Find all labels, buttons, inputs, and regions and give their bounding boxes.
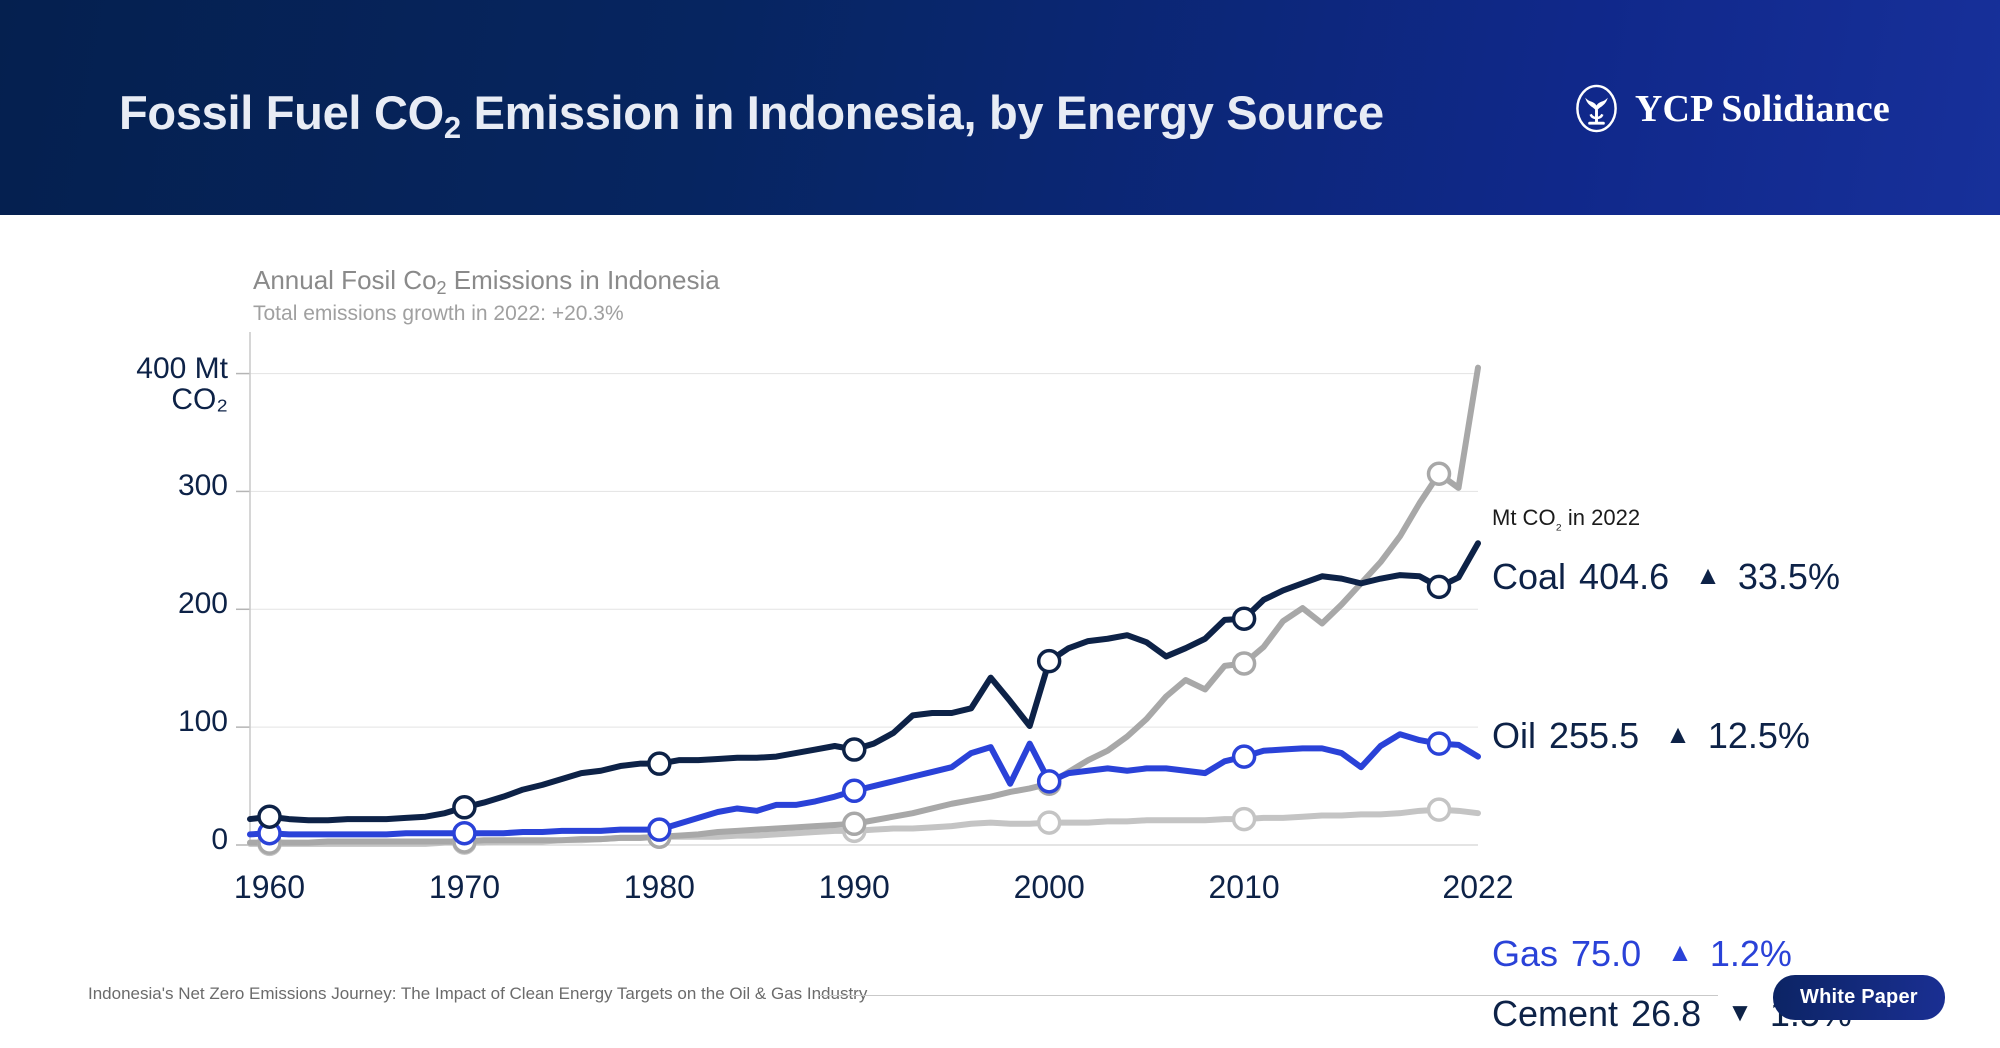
x-axis-tick-label: 1960 xyxy=(209,869,329,906)
x-axis-tick-label: 2010 xyxy=(1184,869,1304,906)
data-point-marker xyxy=(1429,463,1450,484)
x-axis-tick-label: 2000 xyxy=(989,869,1109,906)
data-point-marker xyxy=(1429,733,1450,754)
data-point-marker xyxy=(649,819,670,840)
data-point-marker xyxy=(844,780,865,801)
series-line-coal xyxy=(250,368,1478,843)
page-title-subscript: 2 xyxy=(444,110,461,145)
data-point-marker xyxy=(1429,799,1450,820)
legend-series-value: 404.6 xyxy=(1579,556,1669,598)
y-axis-tick-label: 200 xyxy=(178,588,228,620)
legend-row-oil[interactable]: Oil255.5▲12.5% xyxy=(1492,715,1810,757)
y-axis-tick-label: 0 xyxy=(211,824,228,856)
data-point-marker xyxy=(649,753,670,774)
data-point-marker xyxy=(1234,746,1255,767)
legend-row-coal[interactable]: Coal404.6▲33.5% xyxy=(1492,556,1840,598)
slide-root: Fossil Fuel CO2 Emission in Indonesia, b… xyxy=(0,0,2000,1048)
series-line-oil xyxy=(250,543,1478,820)
data-point-marker xyxy=(259,806,280,827)
data-point-marker xyxy=(1234,809,1255,830)
y-axis-tick-label: 300 xyxy=(178,470,228,502)
arrow-up-icon: ▲ xyxy=(1695,562,1721,588)
footer-divider xyxy=(818,995,1718,996)
legend-series-value: 255.5 xyxy=(1549,715,1639,757)
data-point-marker xyxy=(1429,576,1450,597)
page-title-post: Emission in Indonesia, by Energy Source xyxy=(461,86,1384,139)
x-axis-tick-label: 1980 xyxy=(599,869,719,906)
x-axis-tick-label: 1990 xyxy=(794,869,914,906)
data-point-marker xyxy=(454,823,475,844)
data-point-marker xyxy=(1234,608,1255,629)
x-axis-tick-label: 2022 xyxy=(1418,869,1538,906)
footer-bar: Indonesia's Net Zero Emissions Journey: … xyxy=(0,935,2000,1048)
data-point-marker xyxy=(844,739,865,760)
chart-container: Annual Fosil Co2 Emissions in Indonesia … xyxy=(0,215,2000,935)
data-point-marker xyxy=(1039,812,1060,833)
ycp-circle-y-logo-icon xyxy=(1572,84,1621,133)
footer-caption: Indonesia's Net Zero Emissions Journey: … xyxy=(88,984,867,1004)
white-paper-badge[interactable]: White Paper xyxy=(1773,975,1945,1020)
brand-logo-text: YCP Solidiance xyxy=(1635,87,1890,131)
data-point-marker xyxy=(454,797,475,818)
data-point-marker xyxy=(844,813,865,834)
legend-series-name: Oil xyxy=(1492,715,1536,757)
x-axis-tick-label: 1970 xyxy=(404,869,524,906)
page-title: Fossil Fuel CO2 Emission in Indonesia, b… xyxy=(119,85,1384,140)
legend-series-percent: 33.5% xyxy=(1738,556,1840,598)
arrow-up-icon: ▲ xyxy=(1665,721,1691,747)
data-point-marker xyxy=(1039,651,1060,672)
data-point-marker xyxy=(1234,653,1255,674)
brand-logo: YCP Solidiance xyxy=(1572,84,1890,133)
page-title-pre: Fossil Fuel CO xyxy=(119,86,444,139)
legend-series-percent: 12.5% xyxy=(1708,715,1810,757)
legend-series-name: Coal xyxy=(1492,556,1566,598)
header-banner: Fossil Fuel CO2 Emission in Indonesia, b… xyxy=(0,0,2000,215)
y-axis-tick-label: 100 xyxy=(178,706,228,738)
data-point-marker xyxy=(1039,771,1060,792)
y-axis-tick-label: 400 Mt CO₂ xyxy=(136,353,228,416)
